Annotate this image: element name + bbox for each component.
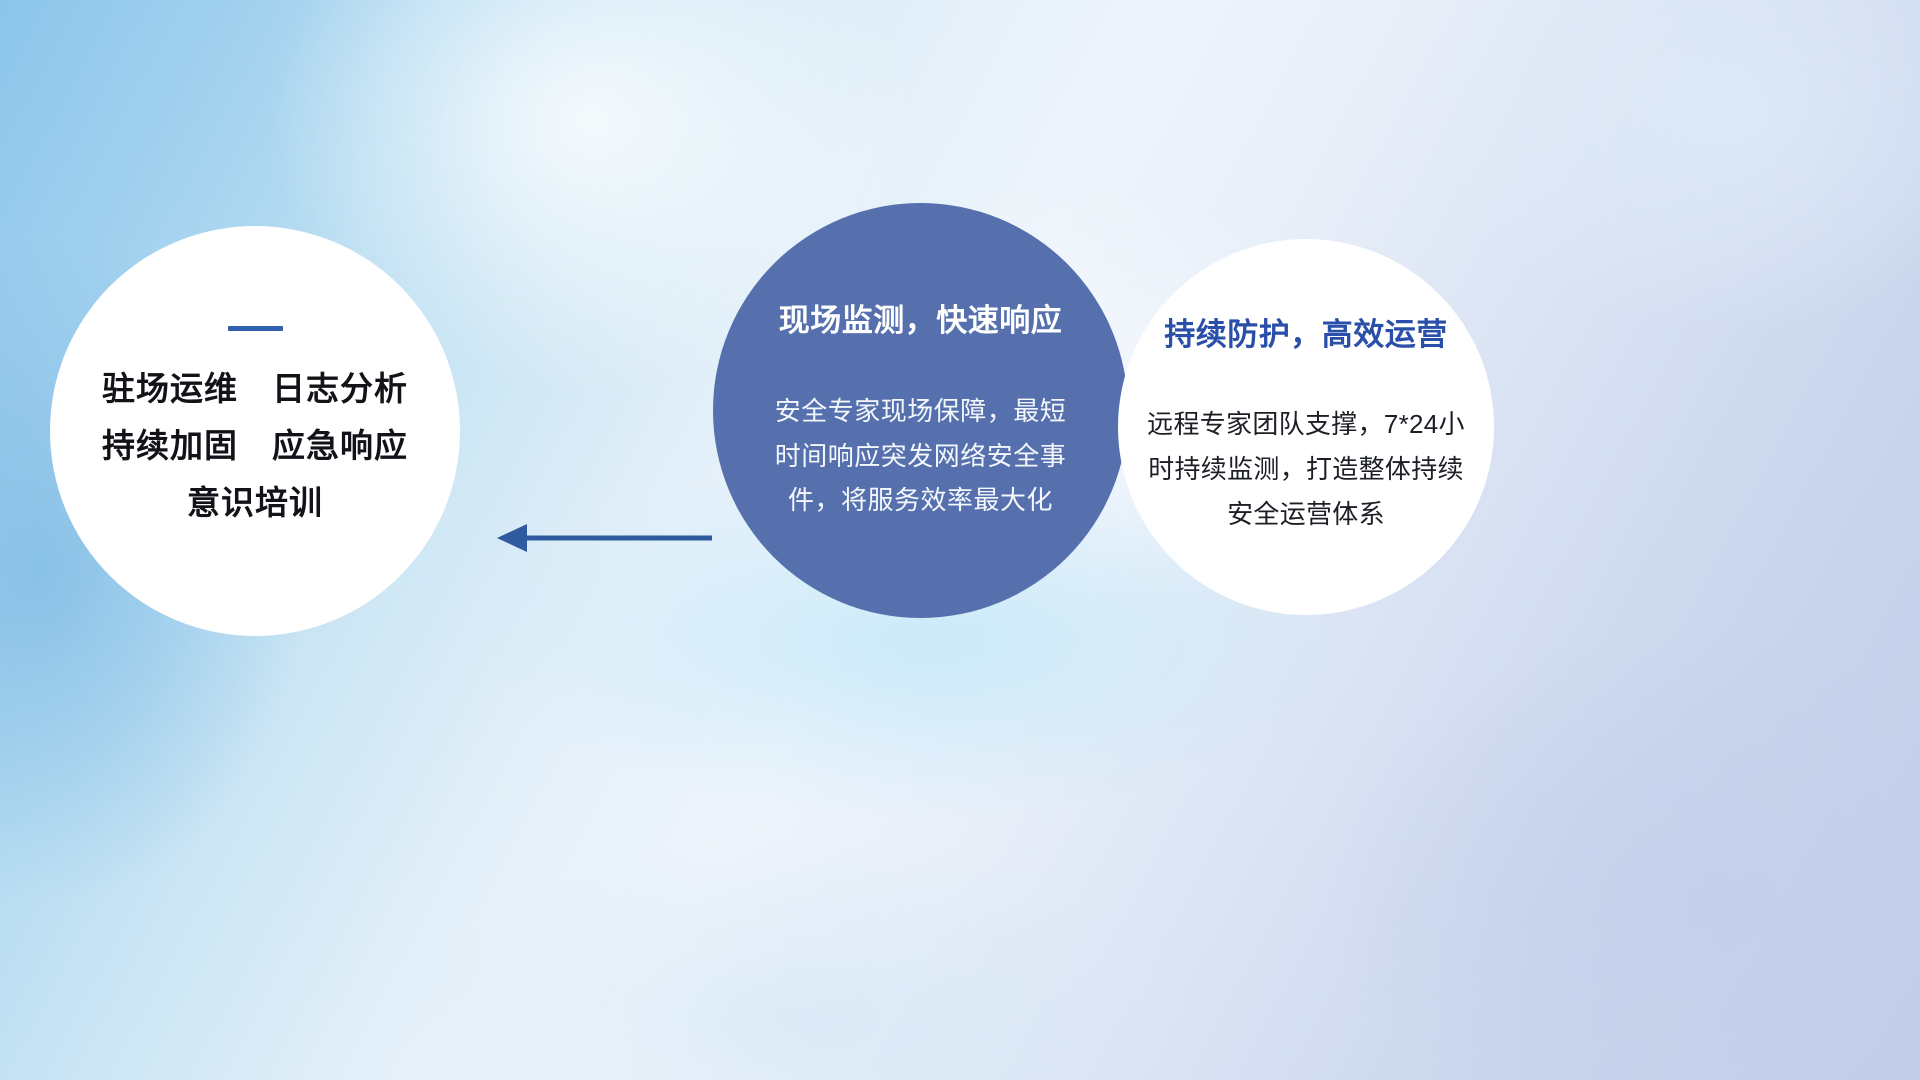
continuous-protection-title: 持续防护，高效运营 xyxy=(1164,309,1448,354)
slide-canvas: 驻场运维 日志分析 持续加固 应急响应 意识培训 现场监测，快速响应 安全专家现… xyxy=(0,0,1920,1080)
onsite-monitoring-circle: 现场监测，快速响应 安全专家现场保障，最短时间响应突发网络安全事件，将服务效率最… xyxy=(713,203,1128,618)
onsite-monitoring-title: 现场监测，快速响应 xyxy=(779,295,1063,340)
onsite-monitoring-body: 安全专家现场保障，最短时间响应突发网络安全事件，将服务效率最大化 xyxy=(771,389,1071,523)
capabilities-circle: 驻场运维 日志分析 持续加固 应急响应 意识培训 xyxy=(50,226,460,636)
continuous-protection-body: 远程专家团队支撑，7*24小时持续监测，打造整体持续安全运营体系 xyxy=(1136,402,1476,538)
capabilities-text: 驻场运维 日志分析 持续加固 应急响应 意识培训 xyxy=(102,361,408,531)
divider-dash-icon xyxy=(228,326,283,331)
continuous-protection-circle: 持续防护，高效运营 远程专家团队支撑，7*24小时持续监测，打造整体持续安全运营… xyxy=(1118,239,1494,615)
